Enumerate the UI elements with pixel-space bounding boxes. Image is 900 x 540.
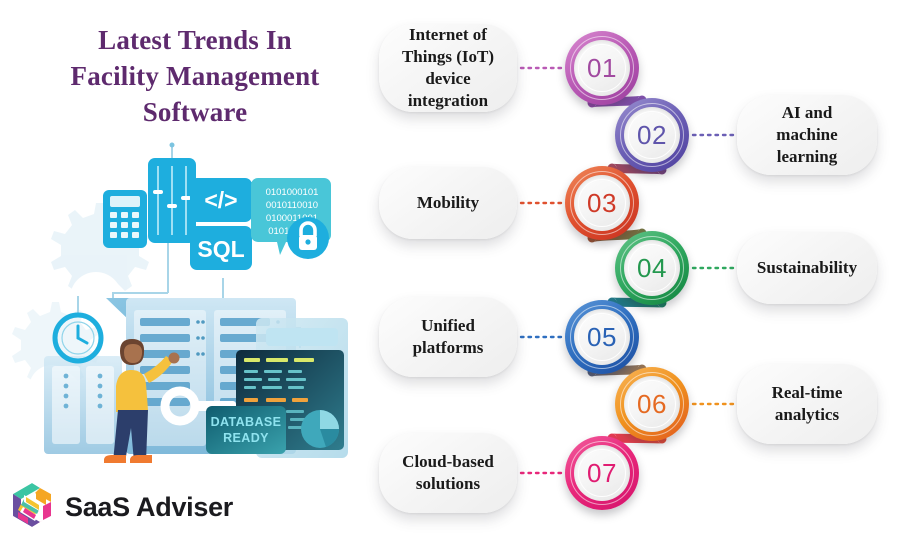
calculator-icon: [103, 190, 147, 248]
trend-label-02[interactable]: AI and machine learning: [737, 95, 877, 175]
code-tag-label: </>: [204, 187, 237, 213]
sql-box: SQL: [190, 226, 252, 270]
trend-label-07[interactable]: Cloud-based solutions: [379, 433, 517, 513]
trends-chain-diagram: 01020304050607 Internet of Things (IoT) …: [390, 0, 900, 540]
illustration-svg: </> SQL 0101000101 0010110010 0100011001…: [8, 138, 378, 468]
database-ready-line-1: DATABASE: [211, 415, 282, 429]
database-management-illustration: </> SQL 0101000101 0010110010 0100011001…: [8, 138, 378, 468]
trend-label-text: Internet of Things (IoT) device integrat…: [391, 24, 505, 112]
infographic-page: Latest Trends In Facility Management Sof…: [0, 0, 900, 540]
node-number: 03: [565, 166, 639, 240]
binary-line-2: 0010110010: [266, 200, 318, 211]
trend-label-05[interactable]: Unified platforms: [379, 297, 517, 377]
node-number: 06: [615, 367, 689, 441]
trend-label-text: Mobility: [417, 192, 479, 214]
database-ready-line-2: READY: [223, 431, 269, 445]
server-rack-icon: [44, 356, 122, 454]
step-node-06[interactable]: 06: [615, 367, 689, 441]
step-node-04[interactable]: 04: [615, 231, 689, 305]
left-panel: Latest Trends In Facility Management Sof…: [0, 0, 390, 540]
trend-label-04[interactable]: Sustainability: [737, 232, 877, 304]
sql-label: SQL: [197, 236, 244, 262]
trend-label-text: Unified platforms: [391, 315, 505, 359]
step-node-07[interactable]: 07: [565, 436, 639, 510]
trend-label-06[interactable]: Real-time analytics: [737, 364, 877, 444]
trend-label-01[interactable]: Internet of Things (IoT) device integrat…: [379, 24, 517, 112]
binary-line-1: 0101000101: [266, 187, 319, 198]
node-number: 04: [615, 231, 689, 305]
node-number: 01: [565, 31, 639, 105]
page-title: Latest Trends In Facility Management Sof…: [18, 22, 372, 130]
trend-label-text: AI and machine learning: [749, 102, 865, 168]
step-node-01[interactable]: 01: [565, 31, 639, 105]
trend-label-03[interactable]: Mobility: [379, 167, 517, 239]
trend-label-text: Sustainability: [757, 257, 857, 279]
title-line-1: Latest Trends In: [18, 22, 372, 58]
node-number: 02: [615, 98, 689, 172]
title-line-3: Software: [18, 94, 372, 130]
step-node-02[interactable]: 02: [615, 98, 689, 172]
node-number: 05: [565, 300, 639, 374]
trend-label-text: Cloud-based solutions: [391, 451, 505, 495]
database-ready-badge: DATABASE READY: [206, 406, 286, 454]
logo-text: SaaS Adviser: [65, 492, 233, 523]
trend-label-text: Real-time analytics: [749, 382, 865, 426]
lock-icon: [287, 217, 329, 259]
node-number: 07: [565, 436, 639, 510]
pie-chart-icon: [301, 410, 339, 448]
brand-logo: SaaS Adviser: [10, 482, 233, 533]
title-line-2: Facility Management: [18, 58, 372, 94]
saas-adviser-hexagon-s-logo: [10, 482, 54, 533]
equalizer-icon: [148, 143, 196, 244]
step-node-05[interactable]: 05: [565, 300, 639, 374]
code-tag-box: </>: [190, 178, 252, 222]
step-node-03[interactable]: 03: [565, 166, 639, 240]
